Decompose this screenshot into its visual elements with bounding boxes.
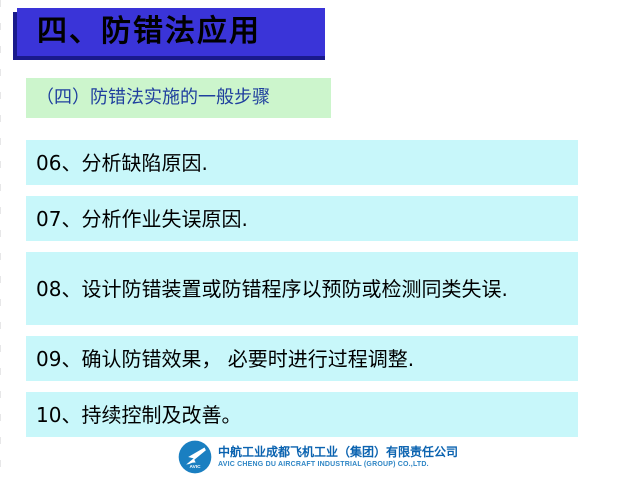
footer-company-name-cn: 中航工业成都飞机工业（集团）有限责任公司	[218, 446, 458, 458]
subtitle-banner: （四）防错法实施的一般步骤	[26, 78, 331, 118]
footer-company-name-en: AVIC CHENG DU AIRCRAFT INDUSTRIAL (GROUP…	[218, 461, 458, 468]
avic-logo-mark-text: AVIC	[190, 464, 202, 470]
step-item-label: 08、设计防错装置或防错程序以预防或检测同类失误.	[26, 271, 508, 307]
step-item-label: 09、确认防错效果， 必要时进行过程调整.	[26, 341, 414, 377]
slide-canvas: 四、防错法应用 （四）防错法实施的一般步骤 06、分析缺陷原因. 07、分析作业…	[0, 0, 640, 480]
footer-text-group: 中航工业成都飞机工业（集团）有限责任公司 AVIC CHENG DU AIRCR…	[218, 446, 458, 468]
avic-logo-icon: AVIC	[178, 440, 212, 474]
subtitle-label: （四）防错法实施的一般步骤	[26, 88, 270, 108]
page-title: 四、防错法应用	[17, 17, 261, 47]
step-item: 08、设计防错装置或防错程序以预防或检测同类失误.	[26, 252, 578, 325]
footer: AVIC 中航工业成都飞机工业（集团）有限责任公司 AVIC CHENG DU …	[178, 440, 458, 474]
step-item-label: 06、分析缺陷原因.	[26, 145, 208, 181]
step-item: 09、确认防错效果， 必要时进行过程调整.	[26, 336, 578, 381]
step-item: 07、分析作业失误原因.	[26, 196, 578, 241]
step-item-label: 07、分析作业失误原因.	[26, 201, 248, 237]
step-item: 06、分析缺陷原因.	[26, 140, 578, 185]
title-bar: 四、防错法应用	[17, 8, 325, 56]
step-item-label: 10、持续控制及改善。	[26, 397, 241, 433]
step-item: 10、持续控制及改善。	[26, 392, 578, 437]
